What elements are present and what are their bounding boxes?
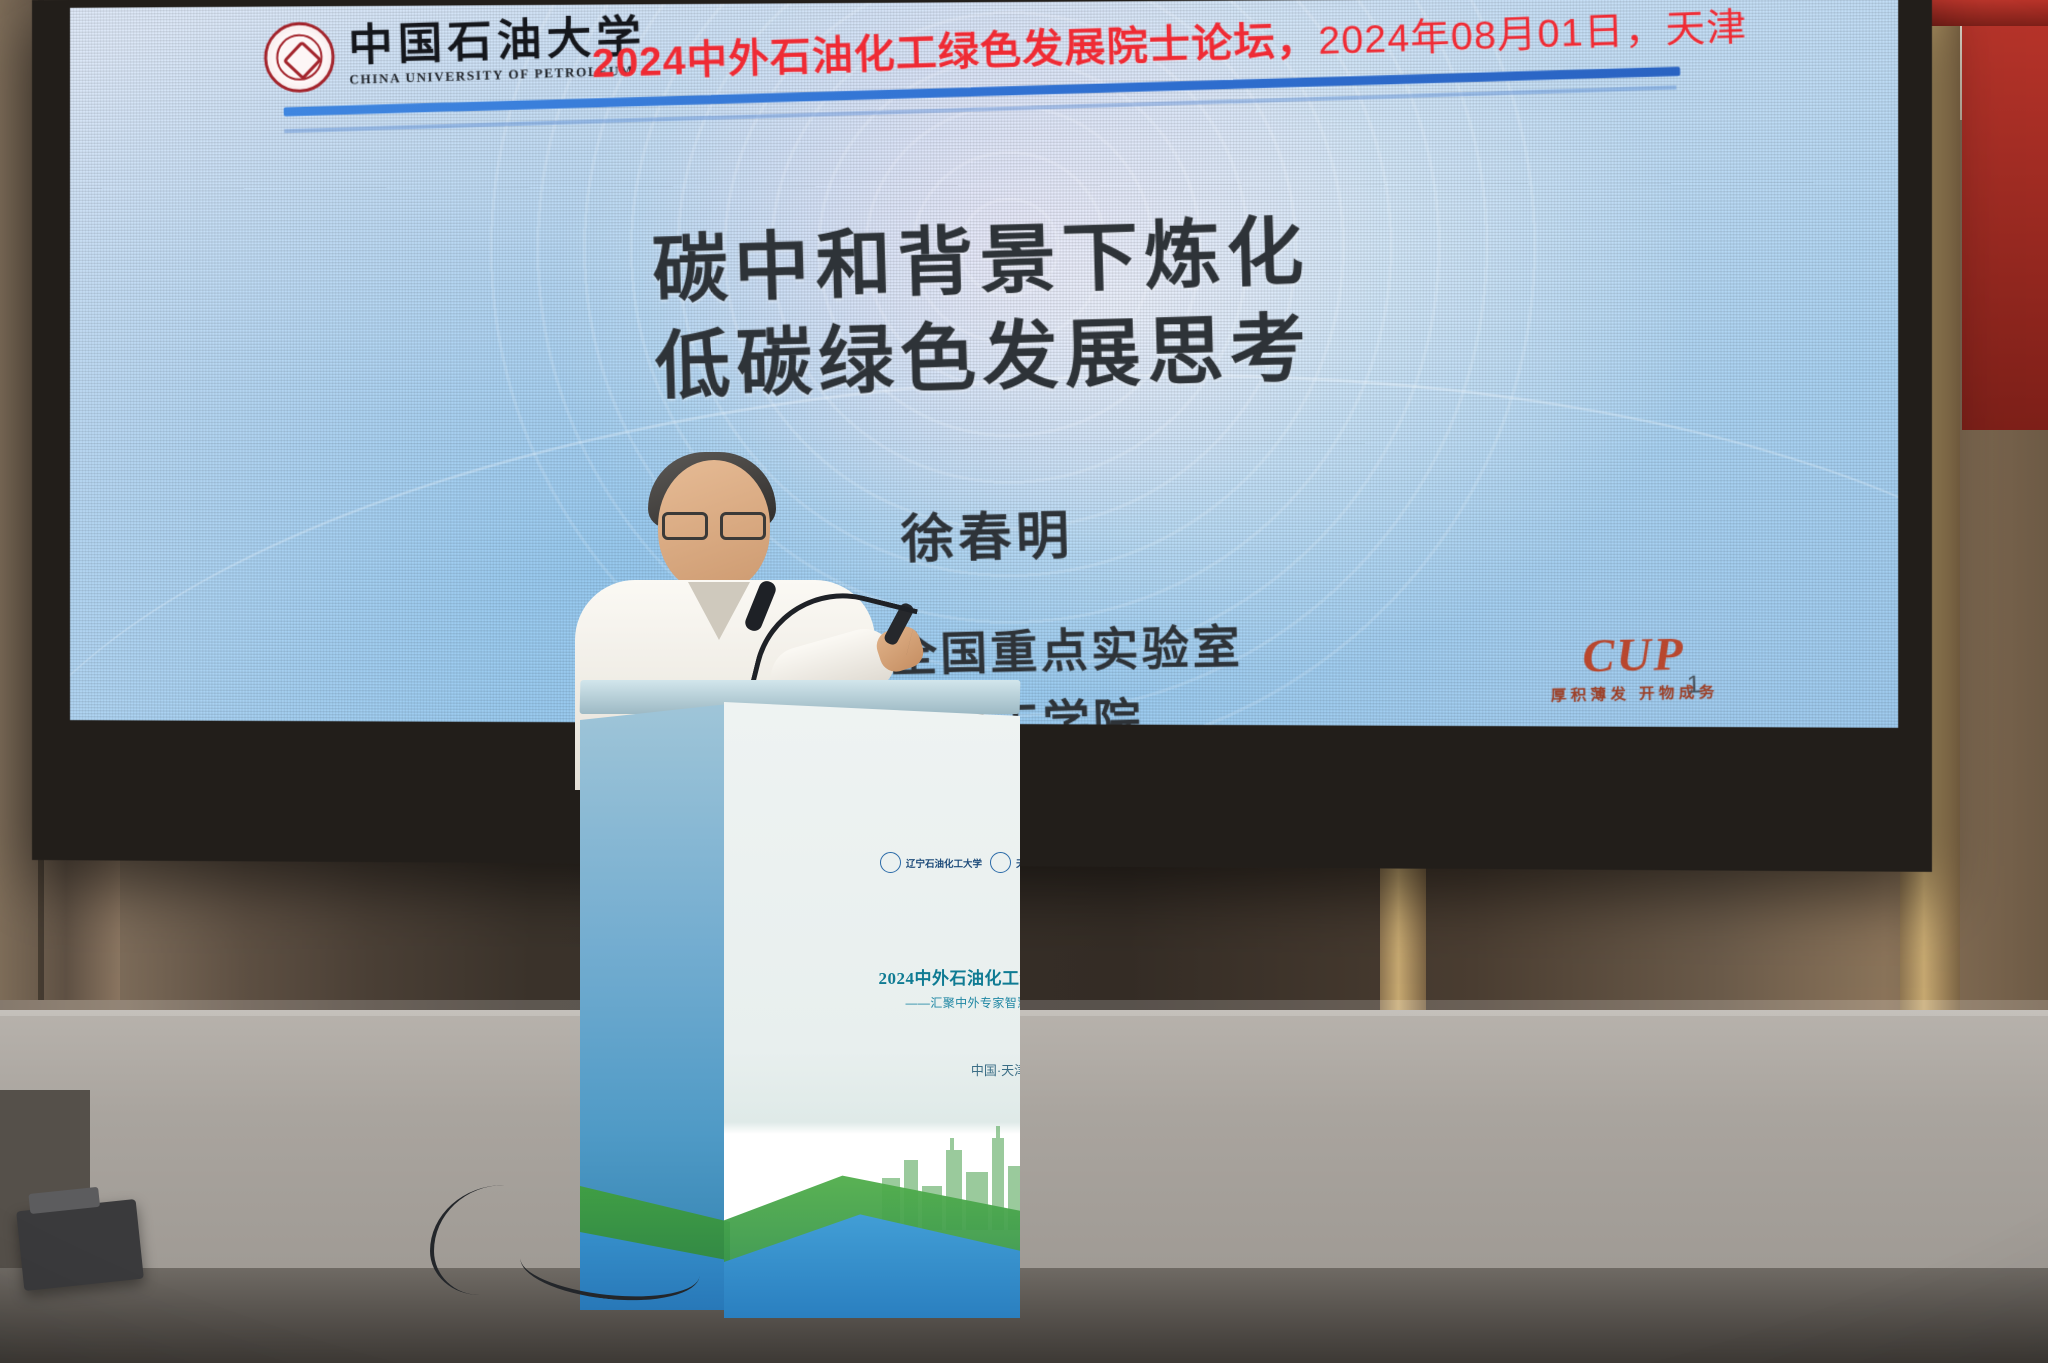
- red-wall-stripe: [1962, 0, 2048, 430]
- university-seal-icon: [263, 21, 335, 94]
- speaker-podium: 辽宁石油化工大学 天津精细化工和新材料产业（人才）联盟 2024中外石油化工绿色…: [580, 680, 1020, 1300]
- forum-banner-title: 2024中外石油化工绿色发展院士论坛，: [591, 18, 1319, 86]
- forum-banner-date: 2024年08月01日，天津: [1318, 6, 1748, 63]
- presentation-slide: 中国石油大学 CHINA UNIVERSITY OF PETROLEUM 202…: [70, 0, 1898, 720]
- slide-page-number: 1: [1686, 671, 1701, 700]
- university-logo-lockup: 中国石油大学 CHINA UNIVERSITY OF PETROLEUM: [263, 11, 647, 94]
- stage-front-apron: [0, 1268, 2048, 1363]
- eyeglasses-icon: [662, 512, 766, 534]
- podium-logo-liaoning-label: 辽宁石油化工大学: [906, 856, 982, 870]
- stage-equipment-case: [16, 1199, 144, 1291]
- tianjin-alliance-drop-icon: [990, 852, 1011, 873]
- slide-speaker-name: 徐春明: [84, 471, 1898, 593]
- led-screen: 中国石油大学 CHINA UNIVERSITY OF PETROLEUM 202…: [70, 0, 1898, 728]
- liaoning-university-seal-icon: [880, 852, 901, 873]
- podium-logo-liaoning: 辽宁石油化工大学: [880, 852, 982, 873]
- conference-stage-scene: 中国石油大学 CHINA UNIVERSITY OF PETROLEUM 202…: [0, 0, 2048, 1363]
- stage-floor-edge: [0, 1000, 2048, 1016]
